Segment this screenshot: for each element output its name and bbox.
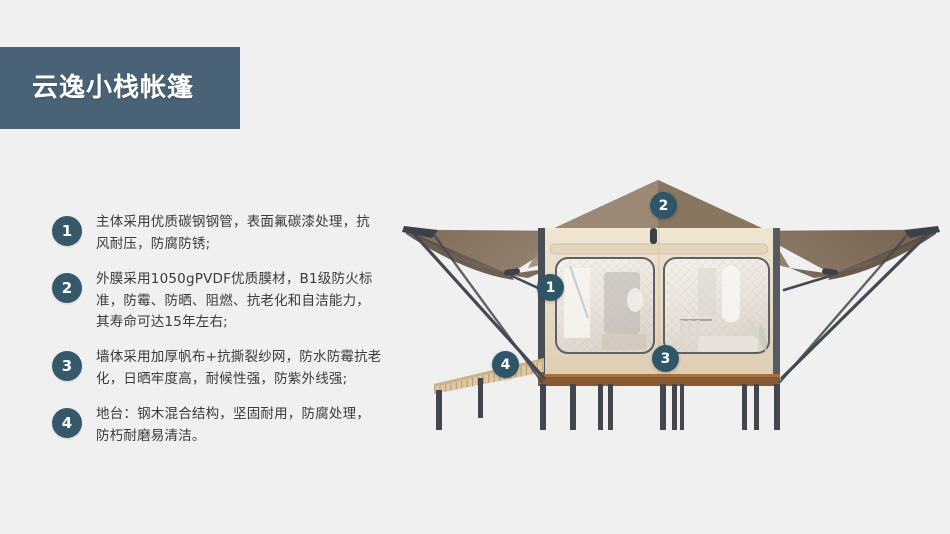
corner-post-left — [538, 228, 545, 380]
ridge-fitting — [650, 228, 657, 244]
feature-item-4: 4 地台：钢木混合结构，坚固耐用，防腐处理，防朽耐磨易清洁。 — [52, 399, 382, 448]
illustration-marker-2: 2 — [650, 192, 677, 219]
corner-post-right — [773, 228, 780, 380]
feature-badge-2: 2 — [52, 273, 82, 303]
feature-item-3: 3 墙体采用加厚帆布+抗撕裂纱网，防水防霉抗老化，日晒牢度高，耐候性强，防紫外线… — [52, 342, 382, 391]
feature-item-1: 1 主体采用优质碳钢钢管，表面氟碳漆处理，抗风耐压，防腐防锈; — [52, 207, 382, 256]
feature-badge-1: 1 — [52, 216, 82, 246]
illustration-marker-1: 1 — [537, 274, 564, 301]
feature-item-2: 2 外膜采用1050gPVDF优质膜材，B1级防火标准，防霉、防晒、阻燃、抗老化… — [52, 264, 382, 335]
feature-text-2: 外膜采用1050gPVDF优质膜材，B1级防火标准，防霉、防晒、阻燃、抗老化和自… — [96, 264, 382, 335]
slide-root: 云逸小栈帐篷 1 主体采用优质碳钢钢管，表面氟碳漆处理，抗风耐压，防腐防锈; 2… — [0, 0, 950, 534]
illustration-marker-3: 3 — [652, 345, 679, 372]
feature-list: 1 主体采用优质碳钢钢管，表面氟碳漆处理，抗风耐压，防腐防锈; 2 外膜采用10… — [52, 207, 382, 456]
illustration-marker-4: 4 — [492, 351, 519, 378]
tent-illustration: 1 2 3 4 — [392, 168, 950, 430]
window-right — [664, 258, 769, 353]
feature-badge-3: 3 — [52, 351, 82, 381]
page-title: 云逸小栈帐篷 — [32, 75, 194, 101]
feature-text-1: 主体采用优质碳钢钢管，表面氟碳漆处理，抗风耐压，防腐防锈; — [96, 207, 382, 256]
window-left — [556, 258, 654, 353]
feature-text-4: 地台：钢木混合结构，坚固耐用，防腐处理，防朽耐磨易清洁。 — [96, 399, 382, 448]
title-banner: 云逸小栈帐篷 — [0, 47, 240, 129]
feature-badge-4: 4 — [52, 408, 82, 438]
feature-text-3: 墙体采用加厚帆布+抗撕裂纱网，防水防霉抗老化，日晒牢度高，耐候性强，防紫外线强; — [96, 342, 382, 391]
